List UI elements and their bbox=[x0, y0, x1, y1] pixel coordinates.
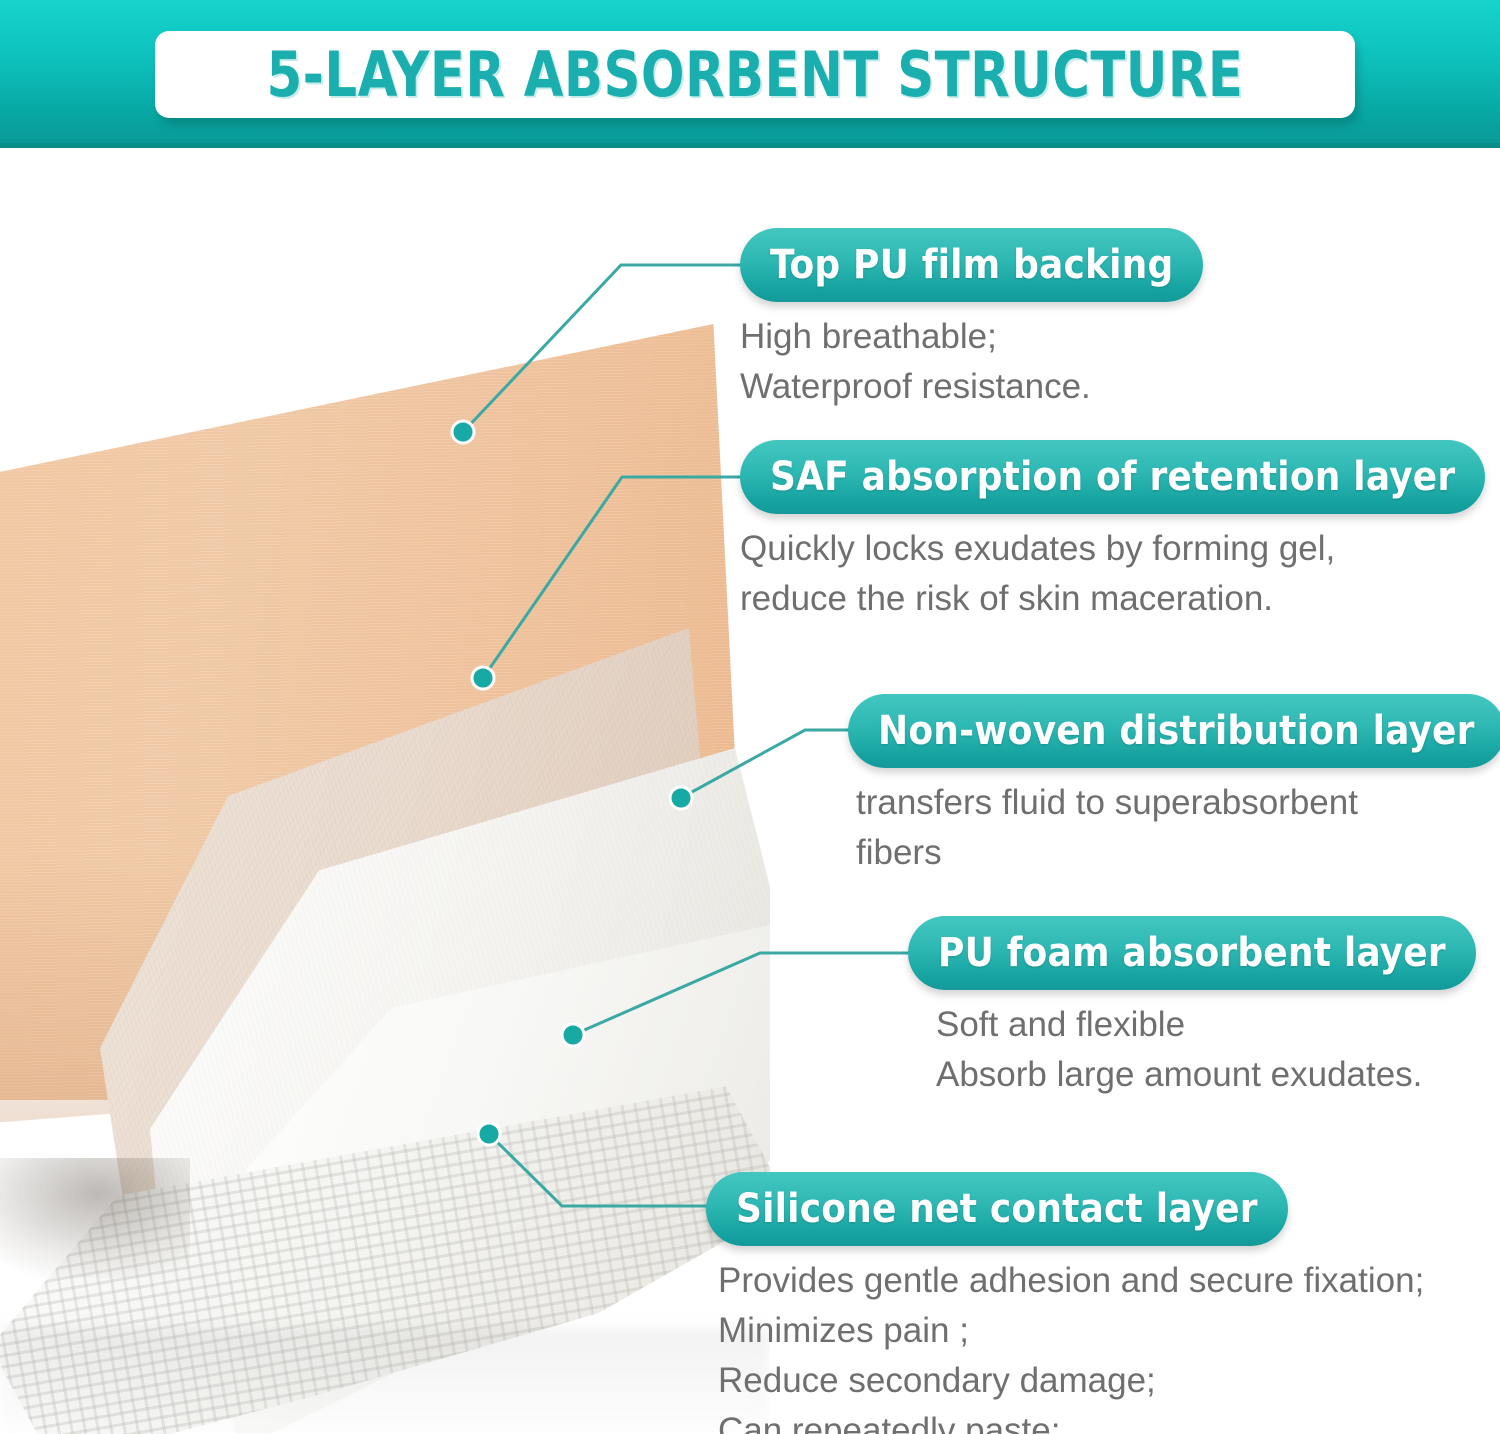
callout-description-non-woven-distribution-layer: transfers fluid to superabsorbent fibers bbox=[856, 778, 1500, 878]
callout-title-non-woven-distribution-layer[interactable]: Non-woven distribution layer bbox=[848, 694, 1500, 768]
ground-shadow bbox=[0, 1328, 770, 1434]
callout-description-saf-absorption-retention-layer: Quickly locks exudates by forming gel, r… bbox=[740, 524, 1485, 624]
title-plate: 5-LAYER ABSORBENT STRUCTURE bbox=[155, 31, 1355, 118]
callout-non-woven-distribution-layer: Non-woven distribution layer transfers f… bbox=[848, 694, 1500, 878]
page-title: 5-LAYER ABSORBENT STRUCTURE bbox=[267, 38, 1244, 111]
header-banner: 5-LAYER ABSORBENT STRUCTURE bbox=[0, 0, 1500, 148]
callout-title-silicone-net-contact-layer[interactable]: Silicone net contact layer bbox=[706, 1172, 1288, 1246]
callout-title-saf-absorption-retention-layer[interactable]: SAF absorption of retention layer bbox=[740, 440, 1485, 514]
callout-title-pu-foam-absorbent-layer[interactable]: PU foam absorbent layer bbox=[908, 916, 1476, 990]
callout-saf-absorption-retention-layer: SAF absorption of retention layer Quickl… bbox=[740, 440, 1485, 624]
product-layer-illustration bbox=[0, 148, 770, 1434]
callout-title-top-pu-film-backing[interactable]: Top PU film backing bbox=[740, 228, 1203, 302]
callout-pu-foam-absorbent-layer: PU foam absorbent layer Soft and flexibl… bbox=[908, 916, 1476, 1100]
callout-description-top-pu-film-backing: High breathable; Waterproof resistance. bbox=[740, 312, 1203, 412]
callout-description-silicone-net-contact-layer: Provides gentle adhesion and secure fixa… bbox=[718, 1256, 1424, 1434]
callout-description-pu-foam-absorbent-layer: Soft and flexible Absorb large amount ex… bbox=[936, 1000, 1476, 1100]
callout-silicone-net-contact-layer: Silicone net contact layer Provides gent… bbox=[706, 1172, 1424, 1434]
infographic-canvas: 5-LAYER ABSORBENT STRUCTURE Top PU film … bbox=[0, 0, 1500, 1434]
callout-top-pu-film-backing: Top PU film backing High breathable; Wat… bbox=[740, 228, 1203, 412]
sheet-fold-shadow bbox=[0, 1158, 190, 1278]
